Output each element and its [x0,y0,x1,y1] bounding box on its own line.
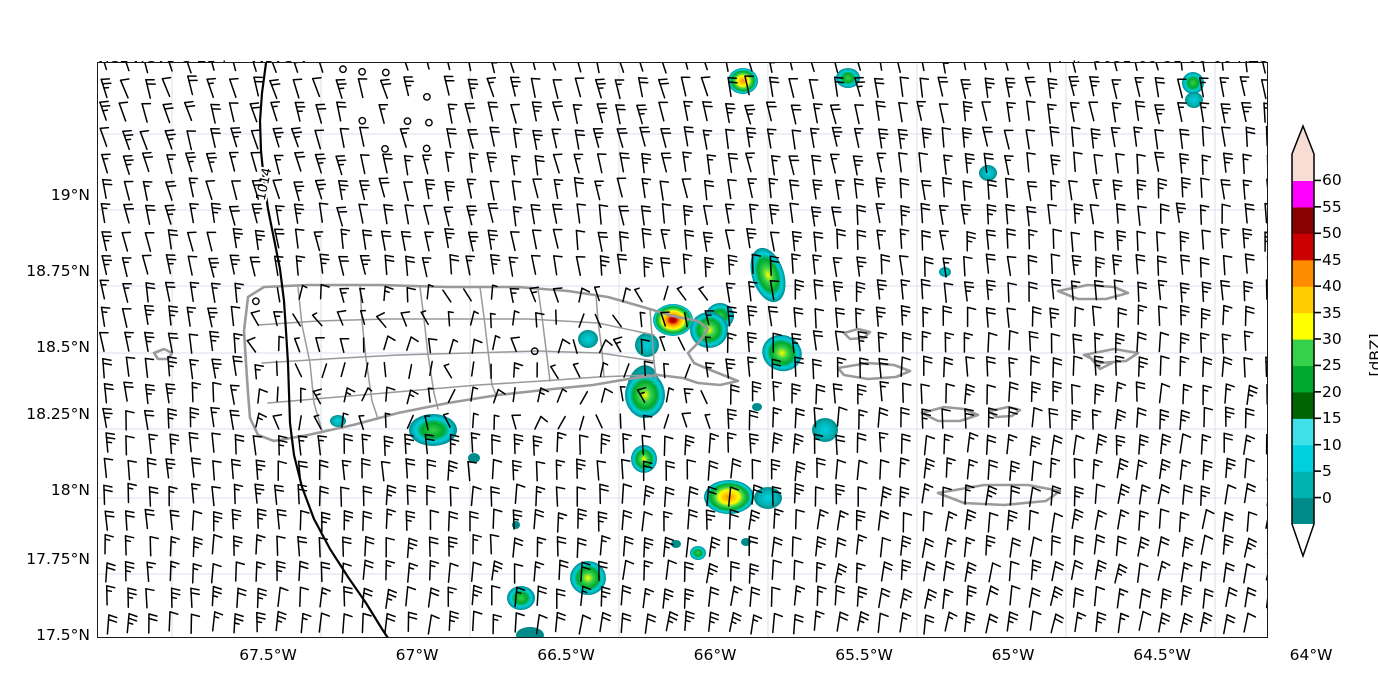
colorbar-under-arrow [1292,524,1314,556]
x-tick-label-2: 66.5°W [537,646,595,664]
x-tick-label-4: 65.5°W [835,646,893,664]
colorbar-band [1292,418,1314,445]
colorbar-tick-label-45: 45 [1322,251,1342,269]
colorbar-band [1292,498,1314,525]
colorbar-band [1292,392,1314,419]
wind-barb [1267,280,1268,299]
colorbar-tick-label-55: 55 [1322,198,1342,216]
colorbar-ticks [1314,180,1321,497]
colorbar-tick-label-50: 50 [1322,224,1342,242]
colorbar-tick-label-40: 40 [1322,277,1342,295]
colorbar-band [1292,339,1314,366]
wind-barb [277,361,278,375]
colorbar-tick-label-10: 10 [1322,436,1342,454]
colorbar-tick-label-30: 30 [1322,330,1342,348]
colorbar-tick-label-25: 25 [1322,356,1342,374]
x-tick-label-0: 67.5°W [239,646,297,664]
colorbar-body [1292,126,1314,556]
wind-barb [1267,127,1268,146]
colorbar-band [1292,260,1314,287]
colorbar-tick-label-15: 15 [1322,409,1342,427]
colorbar-tick-label-20: 20 [1322,383,1342,401]
x-tick-label-6: 64.5°W [1133,646,1191,664]
colorbar-tick-label-0: 0 [1322,489,1332,507]
colorbar-title: [dBZ] [1367,333,1378,376]
colorbar-band [1292,445,1314,472]
colorbar-band [1292,313,1314,340]
wind-barb [277,387,278,401]
x-tick-label-3: 66°W [694,646,737,664]
y-tick-label-1: 18.75°N [26,262,90,280]
x-tick-label-7: 64°W [1290,646,1333,664]
y-tick-label-3: 18.25°N [26,405,90,423]
x-tick-label-1: 67°W [396,646,439,664]
y-tick-label-6: 17.5°N [36,626,90,644]
colorbar-band [1292,286,1314,313]
colorbar-band [1292,365,1314,392]
colorbar-band [1292,207,1314,234]
map-svg: 1014 [98,63,1267,637]
y-tick-label-5: 17.75°N [26,550,90,568]
colorbar-band [1292,154,1314,181]
x-tick-label-5: 65°W [992,646,1035,664]
y-tick-label-0: 19°N [51,186,90,204]
colorbar-svg [1288,120,1378,590]
map-canvas: 1014 [98,63,1267,637]
colorbar-band [1292,233,1314,260]
colorbar-band [1292,180,1314,207]
colorbar-tick-label-60: 60 [1322,171,1342,189]
colorbar-band [1292,471,1314,498]
colorbar-tick-label-5: 5 [1322,462,1332,480]
map-plot-frame[interactable]: 1014 [97,62,1268,638]
wind-barb [620,414,621,428]
colorbar-over-arrow [1292,126,1314,154]
y-tick-label-2: 18.5°N [36,338,90,356]
y-tick-label-4: 18°N [51,481,90,499]
colorbar[interactable]: 051015202530354045505560 [dBZ] [1288,120,1378,590]
colorbar-tick-label-35: 35 [1322,304,1342,322]
